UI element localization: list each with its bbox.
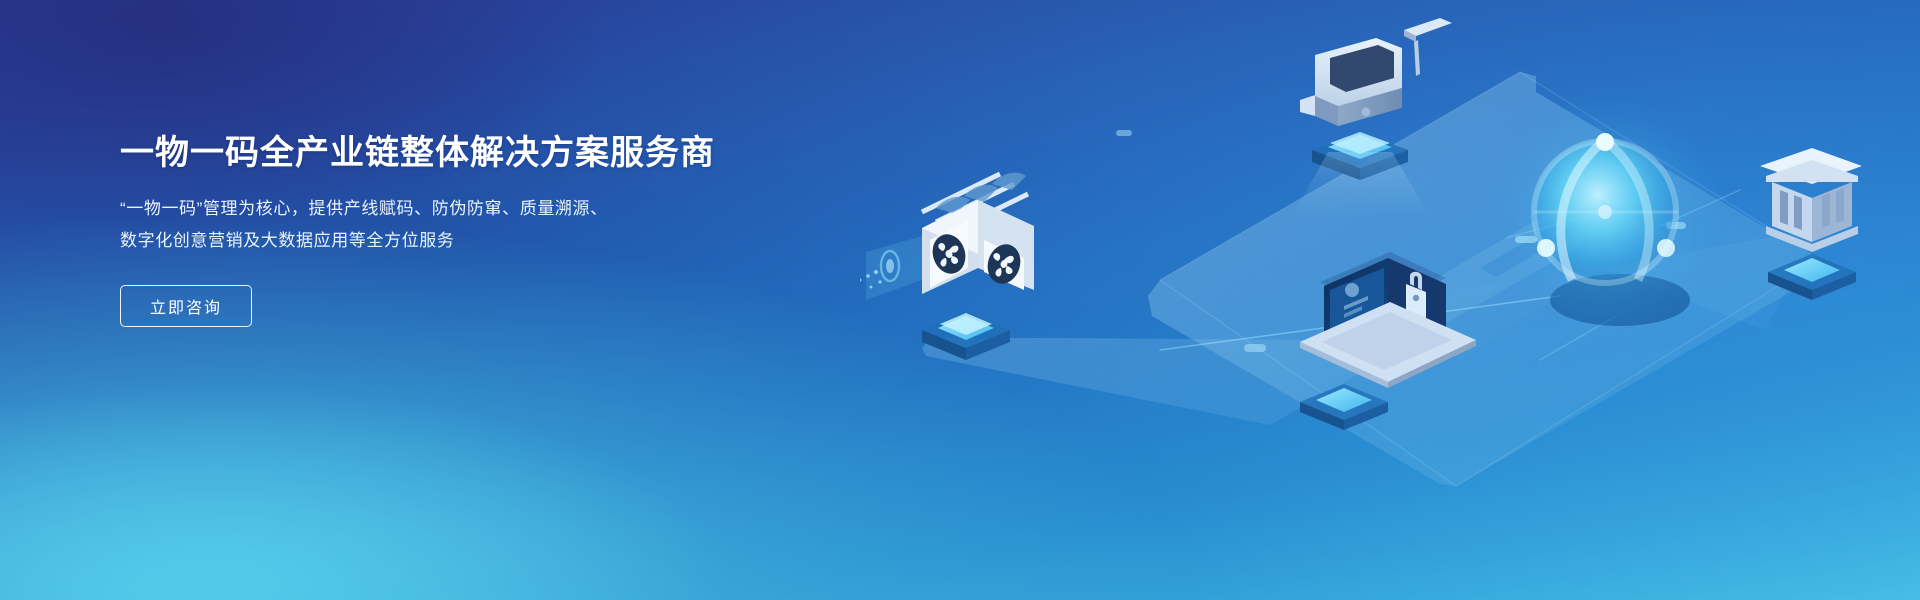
network-globe-icon: [1487, 94, 1723, 330]
hero-illustration: [860, 0, 1920, 600]
page-title: 一物一码全产业链整体解决方案服务商: [120, 131, 760, 175]
subtitle-line-2: 数字化创意营销及大数据应用等全方位服务: [120, 225, 760, 257]
hero-banner: 一物一码全产业链整体解决方案服务商 “一物一码”管理为核心，提供产线赋码、防伪防…: [0, 0, 1920, 600]
hero-copy-block: 一物一码全产业链整体解决方案服务商 “一物一码”管理为核心，提供产线赋码、防伪防…: [120, 131, 760, 327]
bank-building-icon: [1760, 148, 1862, 300]
server-fan-rack-icon: [860, 173, 1034, 360]
hero-subtitle: “一物一码”管理为核心，提供产线赋码、防伪防窜、质量溯源、 数字化创意营销及大数…: [120, 193, 760, 257]
subtitle-line-1: “一物一码”管理为核心，提供产线赋码、防伪防窜、质量溯源、: [120, 193, 760, 225]
data-emission-icon: [860, 236, 922, 300]
consult-now-button[interactable]: 立即咨询: [120, 285, 252, 327]
